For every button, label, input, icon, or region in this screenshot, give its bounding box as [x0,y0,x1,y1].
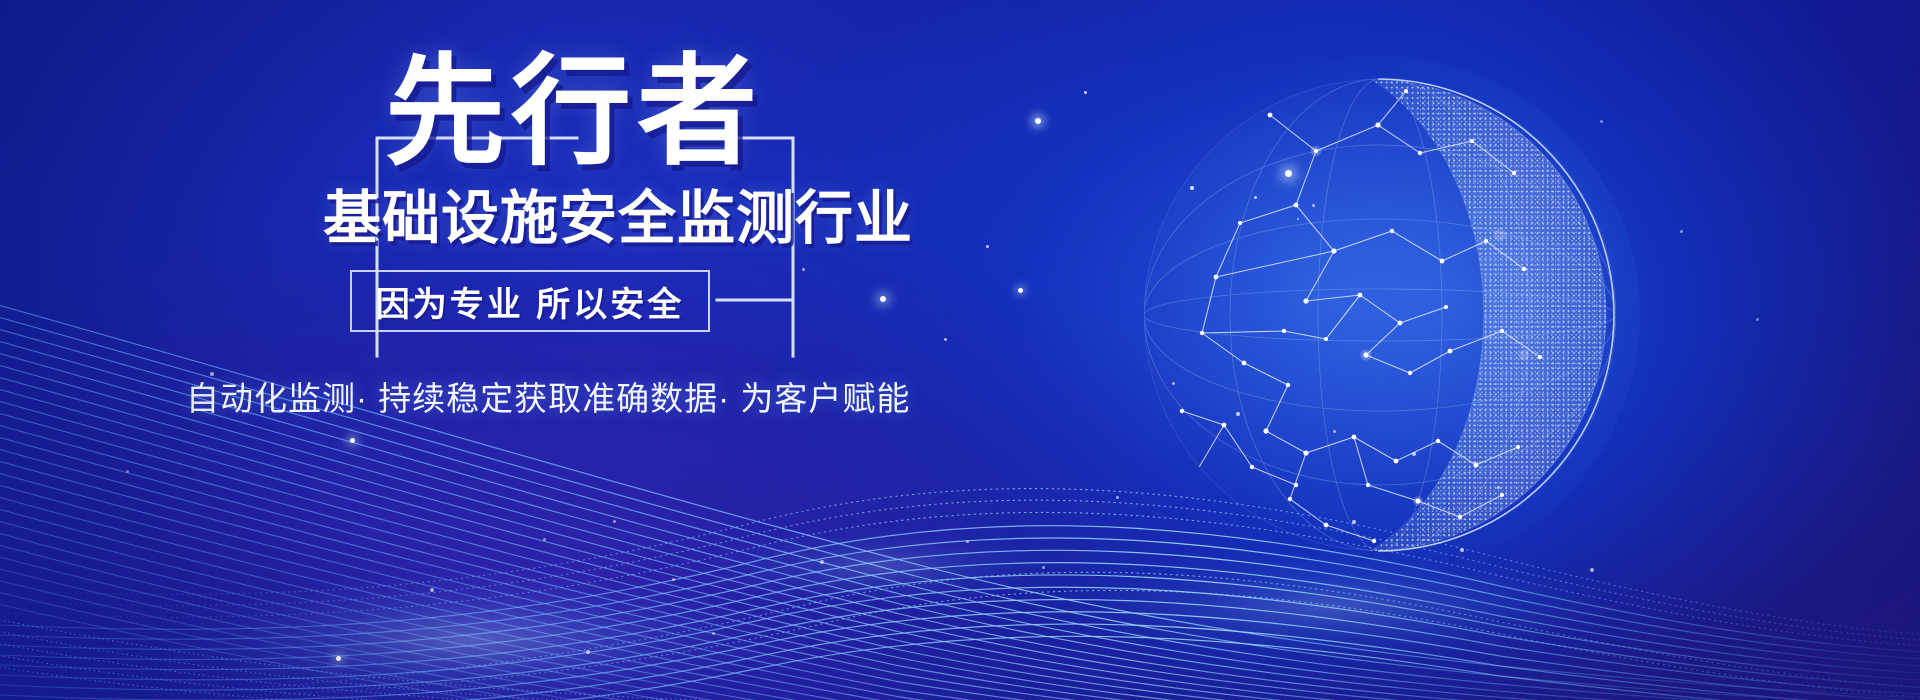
tagline: 自动化监测· 持续稳定获取准确数据· 为客户赋能 [186,372,910,420]
sub-title: 基础设施安全监测行业 [323,190,913,248]
slogan-box: 因为专业 所以安全 [350,270,710,332]
main-title: 先行者 [385,52,763,172]
slogan-text: 因为专业 所以安全 [352,272,708,330]
hero-banner: 先行者 基础设施安全监测行业 因为专业 所以安全 自动化监测· 持续稳定获取准确… [0,0,1920,700]
headline-block: 先行者 基础设施安全监测行业 因为专业 所以安全 [305,60,825,360]
background-gradient [0,0,1920,700]
